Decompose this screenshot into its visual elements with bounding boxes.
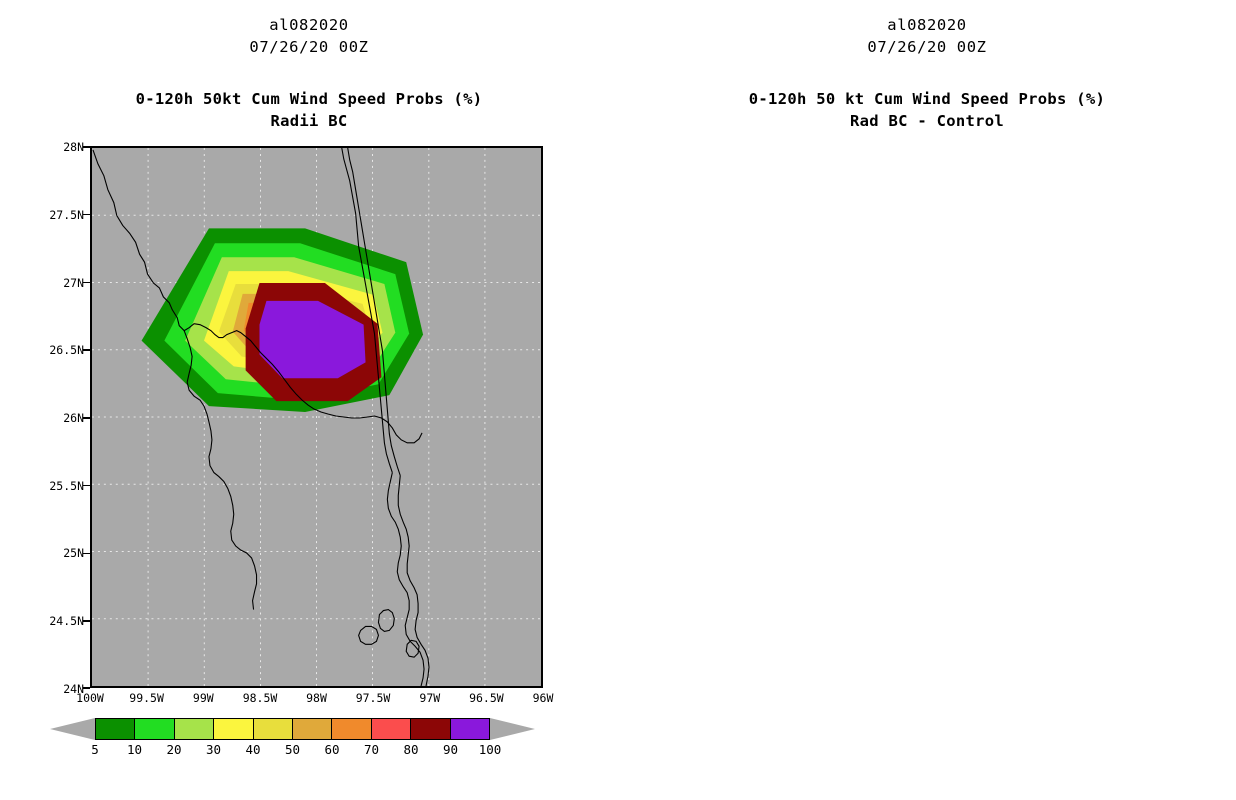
ytick-24.5N: 24.5N <box>34 614 84 628</box>
ytickmark <box>83 553 90 555</box>
cb-tick-40: 40 <box>245 742 260 757</box>
xtick-99W: 99W <box>173 691 233 705</box>
ytickmark <box>83 620 90 622</box>
swatch-40 <box>254 719 293 739</box>
swatch-100 <box>451 719 489 739</box>
right-plot-title: 0-120h 50 kt Cum Wind Speed Probs (%) <box>618 88 1236 110</box>
probability-colorbar[interactable]: 5 10 20 30 40 50 60 70 80 90 100 <box>95 718 490 740</box>
colorbar-high-cap <box>490 718 535 740</box>
cb-tick-20: 20 <box>166 742 181 757</box>
ytickmark <box>83 687 90 689</box>
colorbar-low-cap <box>50 718 95 740</box>
panel-rad-bc-minus-control: al082020 07/26/20 00Z 0-120h 50 kt Cum W… <box>618 0 1236 800</box>
left-title-block: al082020 07/26/20 00Z <box>0 14 618 58</box>
right-storm-id: al082020 <box>618 14 1236 36</box>
swatch-80 <box>411 719 450 739</box>
swatch-5 <box>96 719 135 739</box>
right-title-block: al082020 07/26/20 00Z <box>618 14 1236 58</box>
right-plot-subtitle: Rad BC - Control <box>618 110 1236 132</box>
gridlines <box>92 148 541 686</box>
ytick-25N: 25N <box>34 546 84 560</box>
cb-tick-90: 90 <box>443 742 458 757</box>
xtick-100W: 100W <box>60 691 120 705</box>
ytick-27.5N: 27.5N <box>34 208 84 222</box>
xtick-97W: 97W <box>400 691 460 705</box>
right-subtitle-block: 0-120h 50 kt Cum Wind Speed Probs (%) Ra… <box>618 88 1236 132</box>
ytick-26.5N: 26.5N <box>34 343 84 357</box>
left-plot-subtitle: Radii BC <box>0 110 618 132</box>
cb-tick-80: 80 <box>403 742 418 757</box>
xtick-96W: 96W <box>513 691 573 705</box>
cb-tick-50: 50 <box>285 742 300 757</box>
ytickmark <box>83 349 90 351</box>
swatch-60 <box>332 719 371 739</box>
cb-tick-10: 10 <box>127 742 142 757</box>
ytickmark <box>83 214 90 216</box>
left-cycle: 07/26/20 00Z <box>0 36 618 58</box>
left-plot-title: 0-120h 50kt Cum Wind Speed Probs (%) <box>0 88 618 110</box>
ytickmark <box>83 146 90 148</box>
left-subtitle-block: 0-120h 50kt Cum Wind Speed Probs (%) Rad… <box>0 88 618 132</box>
cb-tick-100: 100 <box>479 742 502 757</box>
xtick-98W: 98W <box>287 691 347 705</box>
right-cycle: 07/26/20 00Z <box>618 36 1236 58</box>
radii-bc-map-svg <box>92 148 541 686</box>
cb-tick-5: 5 <box>91 742 99 757</box>
panel-radii-bc: al082020 07/26/20 00Z 0-120h 50kt Cum Wi… <box>0 0 618 800</box>
xtick-97.5W: 97.5W <box>343 691 403 705</box>
ytick-28N: 28N <box>34 140 84 154</box>
ytickmark <box>83 485 90 487</box>
xtick-99.5W: 99.5W <box>117 691 177 705</box>
swatch-50 <box>293 719 332 739</box>
ytick-25.5N: 25.5N <box>34 479 84 493</box>
swatch-30 <box>214 719 253 739</box>
map-plot-radii-bc[interactable] <box>90 146 543 688</box>
cb-tick-30: 30 <box>206 742 221 757</box>
ytick-26N: 26N <box>34 411 84 425</box>
swatch-10 <box>135 719 174 739</box>
left-storm-id: al082020 <box>0 14 618 36</box>
ytickmark <box>83 282 90 284</box>
cb-tick-60: 60 <box>324 742 339 757</box>
xtick-98.5W: 98.5W <box>230 691 290 705</box>
colorbar-swatches <box>95 718 490 740</box>
cb-tick-70: 70 <box>364 742 379 757</box>
colorbar-ticklabels: 5 10 20 30 40 50 60 70 80 90 100 <box>95 742 490 760</box>
ytick-27N: 27N <box>34 276 84 290</box>
xtick-96.5W: 96.5W <box>456 691 516 705</box>
ytickmark <box>83 417 90 419</box>
swatch-20 <box>175 719 214 739</box>
swatch-70 <box>372 719 411 739</box>
